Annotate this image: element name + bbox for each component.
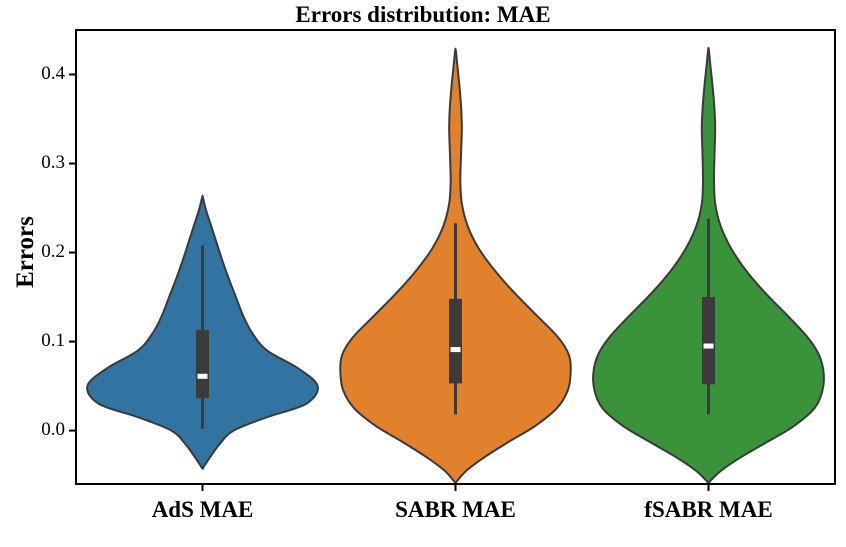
median-marker bbox=[451, 347, 461, 352]
y-tick-label: 0.1 bbox=[5, 330, 65, 352]
plot-area bbox=[0, 0, 846, 547]
iqr-box bbox=[449, 299, 462, 384]
violins-group bbox=[87, 48, 824, 483]
x-tick-label-sabr-mae: SABR MAE bbox=[336, 497, 576, 523]
y-tick-label: 0.3 bbox=[5, 152, 65, 174]
x-tick-label-fsabr-mae: fSABR MAE bbox=[589, 497, 829, 523]
x-tick-label-ads-mae: AdS MAE bbox=[83, 497, 323, 523]
median-marker bbox=[704, 344, 714, 349]
violin-chart-figure: Errors distribution: MAE Errors 0.00.10.… bbox=[0, 0, 846, 547]
y-tick-label: 0.0 bbox=[5, 419, 65, 441]
iqr-box bbox=[702, 297, 715, 384]
median-marker bbox=[198, 374, 208, 379]
y-tick-label: 0.2 bbox=[5, 241, 65, 263]
y-tick-label: 0.4 bbox=[5, 63, 65, 85]
iqr-box bbox=[196, 330, 209, 398]
